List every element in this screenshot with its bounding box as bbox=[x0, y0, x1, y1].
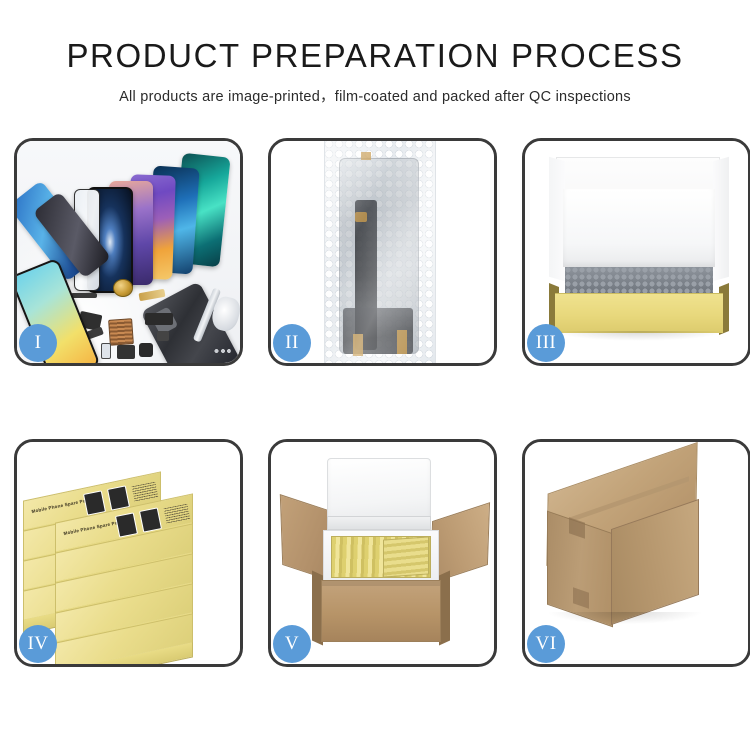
step-panel-6: VI bbox=[522, 439, 750, 667]
sim-tray-part bbox=[101, 343, 111, 359]
step-badge-6: VI bbox=[527, 625, 565, 663]
camera-module-part bbox=[117, 345, 135, 359]
step-panel-2: II bbox=[268, 138, 497, 366]
step-badge-3: III bbox=[527, 324, 565, 362]
bubble-wrap-layer bbox=[565, 267, 713, 295]
step-panel-4: Mobile Phone Spare Parts bbox=[14, 439, 243, 667]
box-shadow bbox=[553, 331, 725, 341]
connector-part bbox=[157, 331, 169, 341]
page-subtitle: All products are image-printed，film-coat… bbox=[0, 85, 750, 106]
step-panel-1: I bbox=[14, 138, 243, 366]
carton-shadow bbox=[549, 612, 701, 624]
step-panel-3: III bbox=[522, 138, 750, 366]
flex-cable-part-3 bbox=[145, 313, 173, 325]
kraft-box-front bbox=[555, 293, 723, 333]
foam-lid-edge bbox=[327, 516, 431, 530]
step-badge-1: I bbox=[19, 324, 57, 362]
step-badge-4: IV bbox=[19, 625, 57, 663]
step-panel-5: V bbox=[268, 439, 497, 667]
step-badge-5: V bbox=[273, 625, 311, 663]
box-screen-image-2 bbox=[139, 507, 162, 532]
plastic-sheen-overlay bbox=[325, 141, 435, 363]
vibration-motor-icon bbox=[113, 279, 133, 297]
yellow-boxes-row-2 bbox=[383, 536, 429, 577]
bubble-wrap-bag bbox=[324, 141, 436, 363]
process-steps-grid: I II bbox=[14, 138, 736, 667]
step-badge-2: II bbox=[273, 324, 311, 362]
page-header: PRODUCT PREPARATION PROCESS All products… bbox=[0, 0, 750, 106]
taptic-engine-part bbox=[139, 343, 153, 357]
carton-front-face bbox=[321, 580, 441, 642]
copper-shield-grid bbox=[108, 318, 134, 346]
white-foam-sheet bbox=[563, 189, 715, 267]
earpiece-speaker-part bbox=[71, 293, 97, 298]
box-screen-image-1 bbox=[115, 512, 138, 537]
screws-group bbox=[213, 347, 231, 355]
page-title: PRODUCT PREPARATION PROCESS bbox=[0, 38, 750, 74]
box-lid-right-flap bbox=[713, 157, 729, 282]
